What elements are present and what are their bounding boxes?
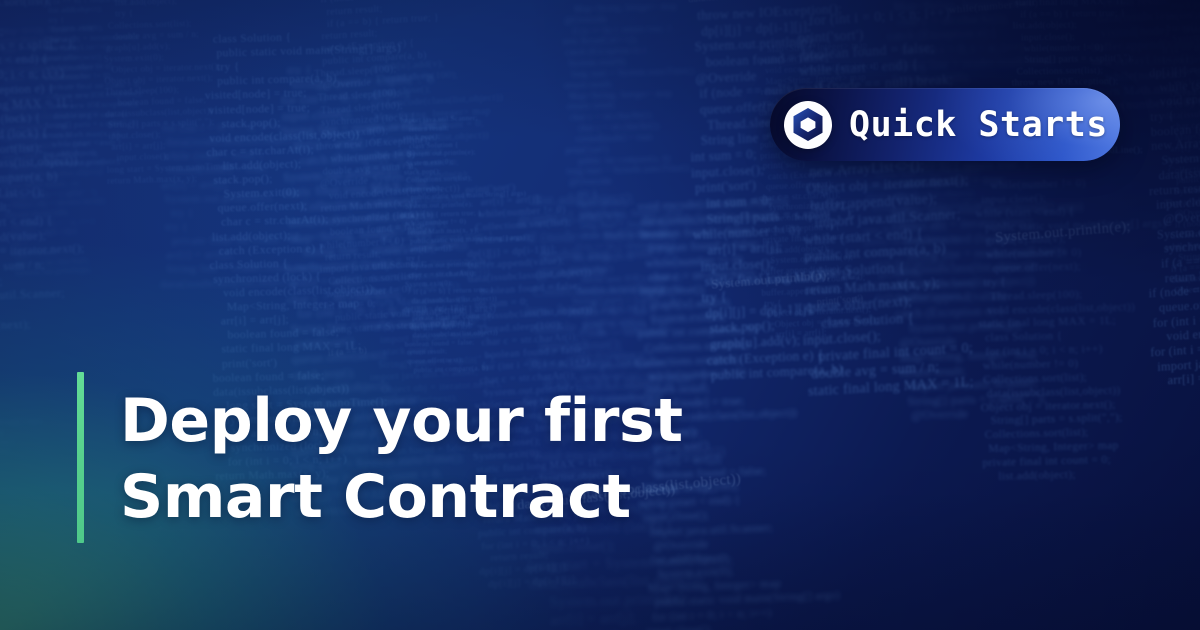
headline-block: Deploy your first Smart Contract [120,383,820,535]
quickstarts-badge-label: Quick Starts [849,105,1108,145]
quickstarts-badge[interactable]: Quick Starts [770,88,1120,161]
quickstart-banner-card: import java.util.Scanner; throw new IOEx… [0,0,1200,630]
headline-accent-bar [77,372,84,543]
chainlink-hexagon-logo [784,101,832,149]
headline-line-2: Smart Contract [120,459,820,535]
headline-line-1: Deploy your first [120,383,820,459]
